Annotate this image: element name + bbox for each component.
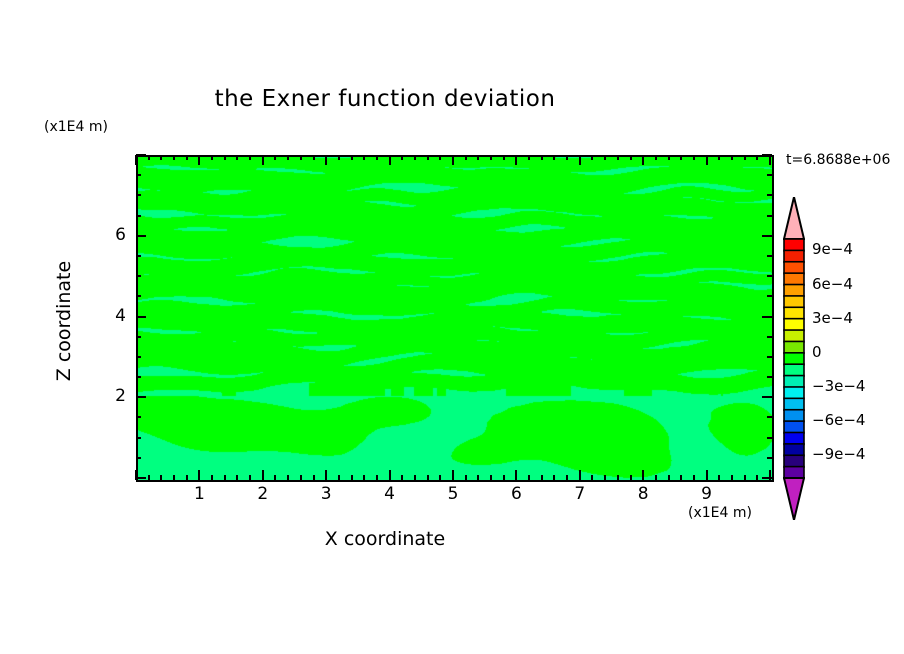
x-axis-minor-tick-top xyxy=(744,155,746,160)
x-axis-minor-tick-top xyxy=(541,155,543,160)
colorbar-svg xyxy=(783,197,805,520)
x-axis-minor-tick xyxy=(668,475,670,480)
x-axis-minor-tick-top xyxy=(693,155,695,160)
y-axis-major-tick xyxy=(136,316,146,318)
x-axis-minor-tick-top xyxy=(211,155,213,160)
y-axis-tick-label: 4 xyxy=(96,306,126,326)
x-axis-minor-tick xyxy=(617,475,619,480)
y-axis-major-tick xyxy=(136,477,146,479)
y-axis-minor-tick xyxy=(136,376,141,378)
colorbar-band xyxy=(784,387,804,399)
colorbar-band xyxy=(784,444,804,456)
x-axis-minor-tick xyxy=(503,475,505,480)
colorbar-tick-label: 3e−4 xyxy=(812,309,853,327)
y-axis-unit-label: (x1E4 m) xyxy=(44,119,108,135)
x-axis-minor-tick-top xyxy=(528,155,530,160)
x-axis-minor-tick xyxy=(439,475,441,480)
y-axis-minor-tick xyxy=(136,194,141,196)
x-axis-minor-tick-top xyxy=(224,155,226,160)
x-axis-major-tick xyxy=(262,470,264,480)
x-axis-minor-tick xyxy=(249,475,251,480)
x-axis-tick-label: 2 xyxy=(248,484,278,504)
x-axis-major-tick xyxy=(579,470,581,480)
contour-plot-area xyxy=(136,155,774,482)
x-axis-minor-tick xyxy=(414,475,416,480)
y-axis-minor-tick xyxy=(136,457,141,459)
x-axis-major-tick-top xyxy=(452,155,454,165)
x-axis-minor-tick-top xyxy=(731,155,733,160)
x-axis-minor-tick xyxy=(186,475,188,480)
x-axis-minor-tick xyxy=(591,475,593,480)
colorbar-tick-label: −9e−4 xyxy=(812,445,865,463)
y-axis-major-tick-right xyxy=(762,154,772,156)
x-axis-minor-tick xyxy=(160,475,162,480)
x-axis-minor-tick xyxy=(351,475,353,480)
x-axis-major-tick xyxy=(642,470,644,480)
y-axis-minor-tick-right xyxy=(767,336,772,338)
y-axis-minor-tick-right xyxy=(767,215,772,217)
x-axis-minor-tick-top xyxy=(427,155,429,160)
x-axis-minor-tick-top xyxy=(490,155,492,160)
colorbar-band xyxy=(784,353,804,365)
x-axis-major-tick-top xyxy=(262,155,264,165)
x-axis-minor-tick xyxy=(274,475,276,480)
colorbar-band xyxy=(784,319,804,331)
y-axis-minor-tick-right xyxy=(767,194,772,196)
x-axis-major-tick xyxy=(389,470,391,480)
x-axis-minor-tick xyxy=(477,475,479,480)
y-axis-major-tick-right xyxy=(762,396,772,398)
colorbar-tick-label: −6e−4 xyxy=(812,411,865,429)
x-axis-minor-tick xyxy=(541,475,543,480)
x-axis-minor-tick-top xyxy=(274,155,276,160)
x-axis-minor-tick xyxy=(236,475,238,480)
y-axis-major-tick xyxy=(136,235,146,237)
x-axis-minor-tick-top xyxy=(566,155,568,160)
colorbar-over-range-arrow xyxy=(784,197,804,239)
x-axis-minor-tick xyxy=(148,475,150,480)
colorbar-band xyxy=(784,398,804,410)
colorbar-band xyxy=(784,341,804,353)
x-axis-minor-tick-top xyxy=(287,155,289,160)
y-axis-title: Z coordinate xyxy=(53,221,75,421)
y-axis-minor-tick-right xyxy=(767,356,772,358)
colorbar-band xyxy=(784,376,804,388)
x-axis-major-tick-top xyxy=(389,155,391,165)
x-axis-minor-tick-top xyxy=(173,155,175,160)
colorbar-band xyxy=(784,239,804,251)
x-axis-major-tick-top xyxy=(198,155,200,165)
y-axis-minor-tick xyxy=(136,356,141,358)
y-axis-minor-tick xyxy=(136,174,141,176)
x-axis-tick-label: 8 xyxy=(628,484,658,504)
colorbar-tick-label: 6e−4 xyxy=(812,275,853,293)
x-axis-minor-tick xyxy=(744,475,746,480)
y-axis-major-tick-right xyxy=(762,477,772,479)
x-axis-minor-tick xyxy=(338,475,340,480)
x-axis-minor-tick xyxy=(604,475,606,480)
y-axis-minor-tick-right xyxy=(767,275,772,277)
x-axis-minor-tick xyxy=(756,475,758,480)
y-axis-major-tick xyxy=(136,154,146,156)
colorbar-band xyxy=(784,410,804,422)
x-axis-minor-tick-top xyxy=(553,155,555,160)
y-axis-minor-tick xyxy=(136,215,141,217)
x-axis-minor-tick-top xyxy=(604,155,606,160)
y-axis-minor-tick-right xyxy=(767,255,772,257)
timestamp-label: t=6.8688e+06 xyxy=(786,152,890,168)
x-axis-minor-tick xyxy=(630,475,632,480)
x-axis-tick-label: 6 xyxy=(501,484,531,504)
y-axis-minor-tick xyxy=(136,336,141,338)
x-axis-tick-label: 9 xyxy=(692,484,722,504)
x-axis-minor-tick-top xyxy=(655,155,657,160)
x-axis-minor-tick xyxy=(490,475,492,480)
y-axis-minor-tick xyxy=(136,437,141,439)
y-axis-tick-label: 2 xyxy=(96,386,126,406)
colorbar-band xyxy=(784,330,804,342)
y-axis-minor-tick-right xyxy=(767,457,772,459)
x-axis-title: X coordinate xyxy=(0,528,770,550)
x-axis-minor-tick-top xyxy=(249,155,251,160)
y-axis-minor-tick-right xyxy=(767,295,772,297)
x-axis-minor-tick xyxy=(363,475,365,480)
colorbar-band xyxy=(784,250,804,262)
x-axis-minor-tick-top xyxy=(376,155,378,160)
x-axis-minor-tick-top xyxy=(668,155,670,160)
y-axis-minor-tick xyxy=(136,275,141,277)
colorbar-band xyxy=(784,421,804,433)
x-axis-minor-tick-top xyxy=(160,155,162,160)
x-axis-minor-tick-top xyxy=(503,155,505,160)
x-axis-minor-tick xyxy=(566,475,568,480)
colorbar-under-range-arrow xyxy=(784,478,804,520)
colorbar-band xyxy=(784,455,804,467)
x-axis-major-tick xyxy=(706,470,708,480)
y-axis-major-tick-right xyxy=(762,235,772,237)
y-axis-minor-tick xyxy=(136,416,141,418)
x-axis-minor-tick xyxy=(211,475,213,480)
x-axis-major-tick-top xyxy=(325,155,327,165)
x-axis-minor-tick-top xyxy=(414,155,416,160)
colorbar-band xyxy=(784,262,804,274)
colorbar-tick-label: 9e−4 xyxy=(812,240,853,258)
x-axis-tick-label: 4 xyxy=(375,484,405,504)
x-axis-minor-tick-top xyxy=(439,155,441,160)
x-axis-minor-tick-top xyxy=(401,155,403,160)
x-axis-minor-tick xyxy=(376,475,378,480)
x-axis-minor-tick xyxy=(465,475,467,480)
colorbar xyxy=(783,197,805,520)
y-axis-tick-label: 6 xyxy=(96,225,126,245)
x-axis-tick-label: 1 xyxy=(184,484,214,504)
x-axis-minor-tick-top xyxy=(186,155,188,160)
colorbar-tick-label: 0 xyxy=(812,343,822,361)
x-axis-major-tick xyxy=(325,470,327,480)
colorbar-band xyxy=(784,432,804,444)
x-axis-minor-tick-top xyxy=(465,155,467,160)
x-axis-tick-label: 3 xyxy=(311,484,341,504)
contour-field-canvas xyxy=(138,157,772,480)
y-axis-minor-tick-right xyxy=(767,416,772,418)
x-axis-minor-tick-top xyxy=(351,155,353,160)
colorbar-band xyxy=(784,285,804,297)
x-axis-minor-tick-top xyxy=(363,155,365,160)
y-axis-minor-tick xyxy=(136,295,141,297)
x-axis-minor-tick-top xyxy=(617,155,619,160)
colorbar-band xyxy=(784,307,804,319)
x-axis-major-tick xyxy=(515,470,517,480)
x-axis-minor-tick-top xyxy=(630,155,632,160)
colorbar-tick-label: −3e−4 xyxy=(812,377,865,395)
x-axis-minor-tick-top xyxy=(338,155,340,160)
x-axis-minor-tick xyxy=(528,475,530,480)
x-axis-minor-tick xyxy=(300,475,302,480)
x-axis-major-tick-top xyxy=(579,155,581,165)
x-axis-minor-tick xyxy=(731,475,733,480)
x-axis-minor-tick-top xyxy=(718,155,720,160)
x-axis-major-tick xyxy=(198,470,200,480)
x-axis-minor-tick xyxy=(718,475,720,480)
x-axis-minor-tick-top xyxy=(680,155,682,160)
colorbar-band xyxy=(784,273,804,285)
x-axis-minor-tick-top xyxy=(148,155,150,160)
x-axis-minor-tick-top xyxy=(236,155,238,160)
x-axis-major-tick-top xyxy=(642,155,644,165)
y-axis-major-tick-right xyxy=(762,316,772,318)
x-axis-minor-tick xyxy=(313,475,315,480)
x-axis-unit-label: (x1E4 m) xyxy=(688,505,752,521)
x-axis-major-tick xyxy=(452,470,454,480)
colorbar-band xyxy=(784,364,804,376)
x-axis-minor-tick xyxy=(287,475,289,480)
x-axis-minor-tick xyxy=(680,475,682,480)
x-axis-minor-tick xyxy=(693,475,695,480)
x-axis-major-tick-top xyxy=(706,155,708,165)
x-axis-minor-tick xyxy=(655,475,657,480)
x-axis-minor-tick-top xyxy=(477,155,479,160)
x-axis-minor-tick xyxy=(224,475,226,480)
x-axis-minor-tick xyxy=(427,475,429,480)
y-axis-major-tick xyxy=(136,396,146,398)
y-axis-minor-tick-right xyxy=(767,437,772,439)
x-axis-major-tick-top xyxy=(135,155,137,165)
x-axis-major-tick-top xyxy=(515,155,517,165)
x-axis-minor-tick xyxy=(553,475,555,480)
x-axis-minor-tick-top xyxy=(313,155,315,160)
x-axis-minor-tick-top xyxy=(591,155,593,160)
y-axis-minor-tick xyxy=(136,255,141,257)
x-axis-minor-tick-top xyxy=(756,155,758,160)
x-axis-minor-tick-top xyxy=(300,155,302,160)
x-axis-minor-tick xyxy=(401,475,403,480)
colorbar-band xyxy=(784,467,804,479)
x-axis-major-tick-top xyxy=(769,155,771,165)
x-axis-tick-label: 5 xyxy=(438,484,468,504)
colorbar-band xyxy=(784,296,804,308)
y-axis-minor-tick-right xyxy=(767,376,772,378)
page-title: the Exner function deviation xyxy=(0,86,770,112)
x-axis-minor-tick xyxy=(173,475,175,480)
x-axis-tick-label: 7 xyxy=(565,484,595,504)
y-axis-minor-tick-right xyxy=(767,174,772,176)
